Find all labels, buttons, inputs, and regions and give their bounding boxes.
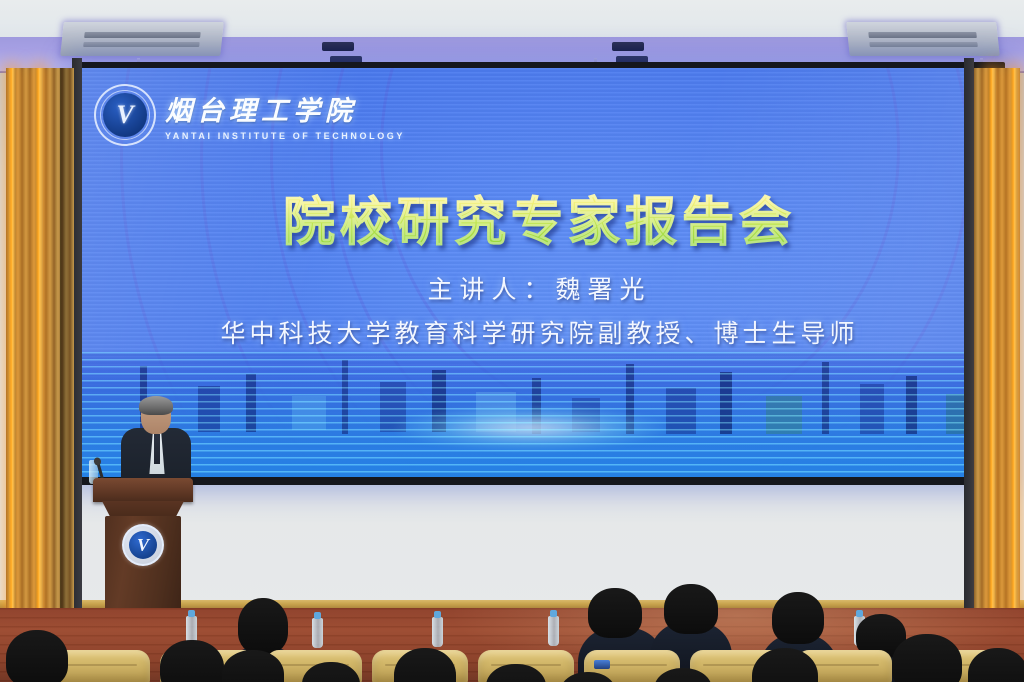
ceiling-speaker-icon	[322, 42, 354, 51]
water-bottle	[312, 618, 323, 648]
ac-vent-icon	[60, 22, 224, 56]
wood-slat-column-right	[974, 68, 1020, 618]
podium: V	[93, 478, 193, 618]
auditorium-scene: V 烟台理工学院 YANTAI INSTITUTE OF TECHNOLOGY …	[0, 0, 1024, 682]
speaker-person	[121, 398, 191, 490]
institution-name-cn: 烟台理工学院	[165, 89, 405, 128]
institution-name-en: YANTAI INSTITUTE OF TECHNOLOGY	[165, 131, 405, 141]
slide-affiliation-line: 华中科技大学教育科学研究院副教授、博士生导师	[80, 314, 999, 350]
institution-logo: V 烟台理工学院 YANTAI INSTITUTE OF TECHNOLOGY	[94, 84, 405, 146]
audience-head	[772, 592, 824, 644]
wood-slat-column-left	[6, 68, 74, 618]
audience-head	[664, 584, 718, 634]
podium-emblem-mark: V	[129, 531, 157, 559]
audience-head	[238, 598, 288, 654]
seal-v-mark: V	[110, 100, 140, 130]
ceiling-speaker-icon	[612, 42, 644, 51]
city-scanlines	[80, 352, 999, 477]
ac-vent-icon	[846, 22, 1000, 56]
led-strip-icon	[1010, 68, 1018, 618]
led-strip-icon	[8, 68, 16, 618]
digital-city-graphic	[80, 352, 999, 477]
water-bottle	[548, 616, 559, 646]
phone-screen-icon	[594, 660, 610, 669]
auditorium-seat	[54, 650, 150, 682]
slide-speaker-line: 主讲人：魏署光	[80, 270, 999, 306]
led-screen-bezel: V 烟台理工学院 YANTAI INSTITUTE OF TECHNOLOGY …	[74, 62, 1005, 485]
podium-emblem-icon: V	[122, 524, 164, 566]
led-strip-icon	[988, 68, 996, 618]
institution-seal-icon: V	[94, 84, 156, 146]
led-screen-display: V 烟台理工学院 YANTAI INSTITUTE OF TECHNOLOGY …	[80, 68, 999, 477]
audience-head	[892, 634, 962, 682]
slide-title: 院校研究专家报告会	[80, 180, 999, 255]
speaker-hair	[139, 396, 173, 415]
audience-head	[588, 588, 642, 638]
column-edge-right	[964, 58, 974, 622]
led-strip-icon	[35, 68, 43, 618]
audience-head	[6, 630, 68, 682]
water-bottle	[432, 617, 443, 647]
